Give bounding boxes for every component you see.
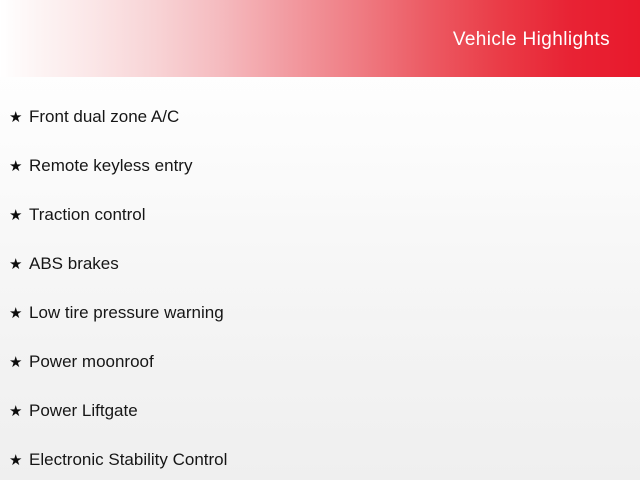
vehicle-highlights-list: ★ Front dual zone A/C ★ Remote keyless e…	[0, 92, 640, 484]
list-item: ★ Front dual zone A/C	[0, 92, 640, 141]
page-title: Vehicle Highlights	[453, 29, 610, 51]
list-item-label: Low tire pressure warning	[29, 303, 224, 323]
list-item: ★ Power Liftgate	[0, 386, 640, 435]
star-bullet-icon: ★	[9, 353, 29, 371]
header-gradient-band: Vehicle Highlights	[0, 0, 640, 77]
list-item: ★ Electronic Stability Control	[0, 435, 640, 484]
list-item-label: ABS brakes	[29, 254, 119, 274]
list-item: ★ Low tire pressure warning	[0, 288, 640, 337]
star-bullet-icon: ★	[9, 402, 29, 420]
list-item: ★ Remote keyless entry	[0, 141, 640, 190]
list-item-label: Power moonroof	[29, 352, 154, 372]
star-bullet-icon: ★	[9, 108, 29, 126]
list-item: ★ Power moonroof	[0, 337, 640, 386]
list-item-label: Traction control	[29, 205, 146, 225]
list-item-label: Front dual zone A/C	[29, 107, 179, 127]
list-item-label: Power Liftgate	[29, 401, 138, 421]
star-bullet-icon: ★	[9, 304, 29, 322]
list-item-label: Electronic Stability Control	[29, 450, 227, 470]
star-bullet-icon: ★	[9, 157, 29, 175]
list-item: ★ ABS brakes	[0, 239, 640, 288]
vehicle-highlights-page: Vehicle Highlights ★ Front dual zone A/C…	[0, 0, 640, 480]
star-bullet-icon: ★	[9, 255, 29, 273]
star-bullet-icon: ★	[9, 206, 29, 224]
list-item-label: Remote keyless entry	[29, 156, 192, 176]
star-bullet-icon: ★	[9, 451, 29, 469]
list-item: ★ Traction control	[0, 190, 640, 239]
